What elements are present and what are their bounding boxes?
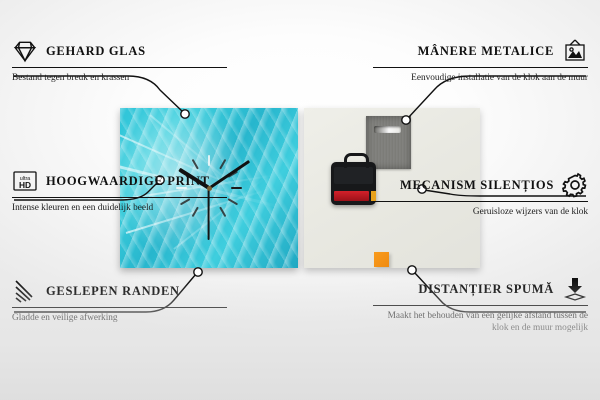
diamond-icon xyxy=(12,38,38,64)
callout-rule xyxy=(373,67,588,68)
callout-hd-print: ultra HD HOOGWAARDIGE PRINT Intense kleu… xyxy=(12,168,227,214)
callout-tempered-glass: GEHARD GLAS Bestand tegen breuk en krass… xyxy=(12,38,227,84)
ultra-hd-icon: ultra HD xyxy=(12,168,38,194)
gear-icon xyxy=(562,172,588,198)
movement-hanging-loop xyxy=(344,153,369,168)
callout-description: Eenvoudige installatie van de klok aan d… xyxy=(373,72,588,84)
callout-rule xyxy=(373,201,588,202)
battery xyxy=(334,191,369,201)
callout-rule xyxy=(12,67,227,68)
down-arrow-plate-icon xyxy=(562,276,588,302)
callout-polished-edges: GESLEPEN RANDEN Gladde en veilige afwerk… xyxy=(12,278,227,324)
clock-movement xyxy=(331,162,376,205)
callout-title: GESLEPEN RANDEN xyxy=(46,284,180,299)
callout-description: Intense kleuren en een duidelijk beeld xyxy=(12,202,227,214)
callout-foam-spacer: DISTANȚIER SPUMĂ Maakt het behouden van … xyxy=(373,276,588,335)
svg-text:HD: HD xyxy=(19,180,31,190)
callout-title: DISTANȚIER SPUMĂ xyxy=(418,282,554,297)
metal-hanger-plate xyxy=(366,116,411,169)
callout-title: GEHARD GLAS xyxy=(46,44,146,59)
callout-title: MECANISM SILENȚIOS xyxy=(400,178,554,193)
callout-description: Bestand tegen breuk en krassen xyxy=(12,72,227,84)
callout-description: Maakt het behouden van een gelijke afsta… xyxy=(373,310,588,335)
callout-description: Gladde en veilige afwerking xyxy=(12,312,227,324)
hanger-keyhole-slot xyxy=(374,126,401,133)
callout-title: HOOGWAARDIGE PRINT xyxy=(46,174,210,189)
connector-dot xyxy=(194,268,202,276)
picture-frame-hanger-icon xyxy=(562,38,588,64)
bevel-lines-icon xyxy=(12,278,38,304)
foam-spacer-pad xyxy=(374,252,389,267)
callout-metal-handles: MÂNERE METALICE Eenvoudige installatie v… xyxy=(373,38,588,84)
callout-description: Geruisloze wijzers van de klok xyxy=(373,206,588,218)
callout-rule xyxy=(12,197,227,198)
callout-silent-mechanism: MECANISM SILENȚIOS Geruisloze wijzers va… xyxy=(373,172,588,218)
callout-title: MÂNERE METALICE xyxy=(418,44,554,59)
infographic-canvas: GEHARD GLAS Bestand tegen breuk en krass… xyxy=(0,0,600,400)
callout-rule xyxy=(12,307,227,308)
callout-rule xyxy=(373,305,588,306)
movement-body xyxy=(334,167,373,184)
